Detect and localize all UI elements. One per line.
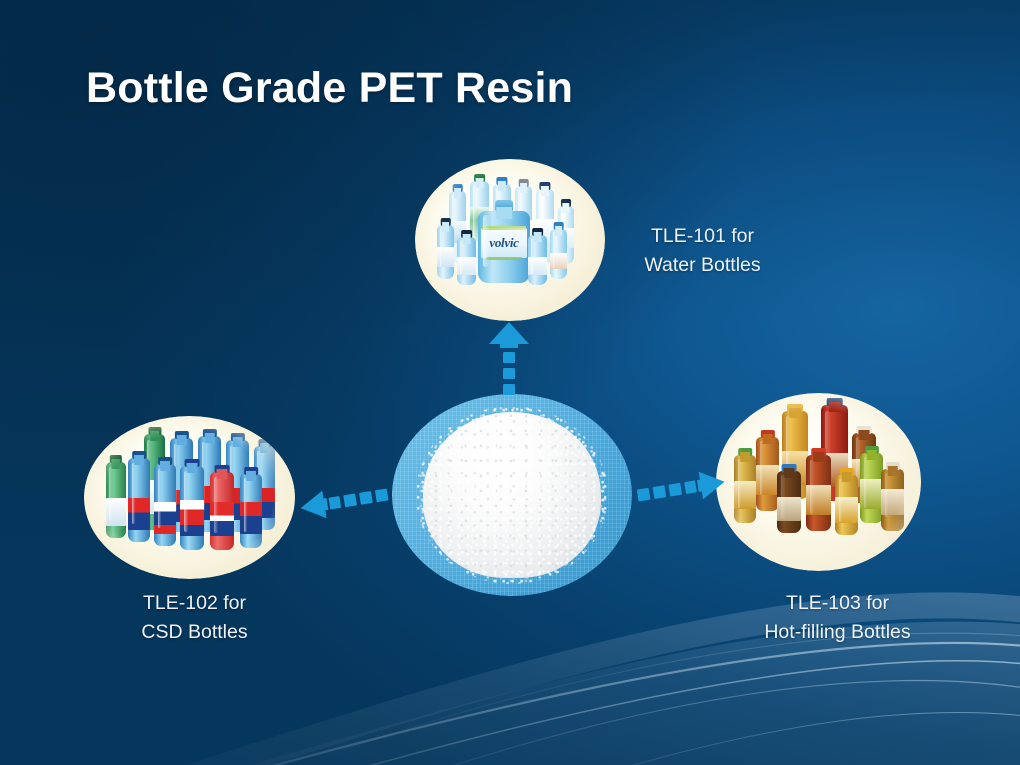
pellet-grain-texture xyxy=(416,406,608,584)
caption-water: TLE-101 for Water Bottles xyxy=(600,222,805,280)
caption-hotfill-application: Hot-filling Bottles xyxy=(735,618,940,647)
caption-water-grade: TLE-101 for xyxy=(600,222,805,251)
caption-csd-application: CSD Bottles xyxy=(92,618,297,647)
water-photo-edge-fade xyxy=(415,159,605,321)
csd-photo-edge-fade xyxy=(84,416,295,579)
arrow-right-to-hot-filling-bottles xyxy=(633,464,725,512)
caption-csd-grade: TLE-102 for xyxy=(92,589,297,618)
center-photo-pet-resin-pellets xyxy=(392,394,632,596)
caption-hotfill-grade: TLE-103 for xyxy=(735,589,940,618)
caption-csd: TLE-102 for CSD Bottles xyxy=(92,589,297,647)
slide-canvas: Bottle Grade PET Resin xyxy=(0,0,1020,765)
arrow-up-to-water-bottles xyxy=(484,322,534,400)
caption-hotfill: TLE-103 for Hot-filling Bottles xyxy=(735,589,940,647)
photo-water-bottles: volvic xyxy=(415,159,605,321)
caption-water-application: Water Bottles xyxy=(600,251,805,280)
photo-hot-filling-bottles xyxy=(716,393,921,571)
photo-csd-bottles xyxy=(84,416,295,579)
arrow-left-to-csd-bottles xyxy=(300,476,392,524)
hotfill-photo-edge-fade xyxy=(716,393,921,571)
page-title: Bottle Grade PET Resin xyxy=(86,64,573,113)
